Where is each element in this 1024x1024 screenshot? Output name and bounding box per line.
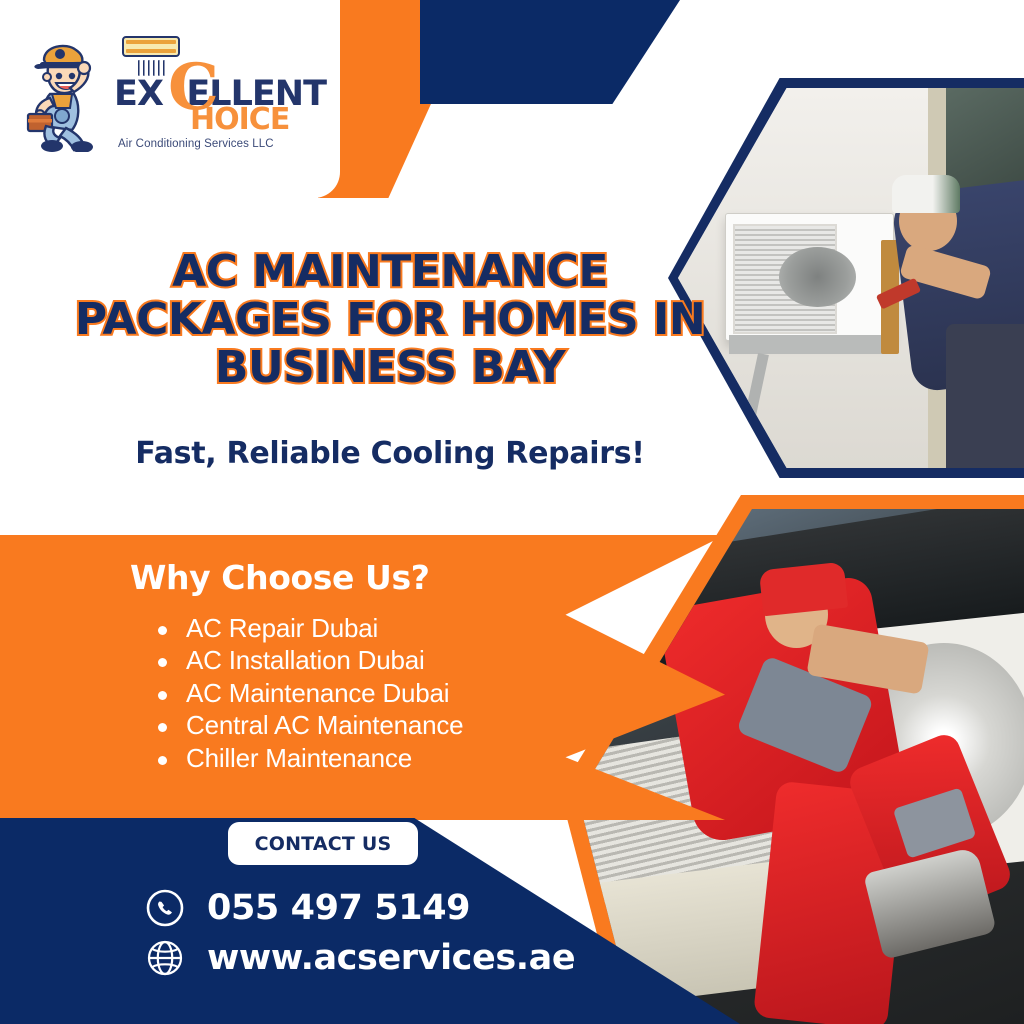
why-choose-us-section: Why Choose Us? AC Repair Dubai AC Instal…: [130, 558, 550, 775]
why-choose-us-title: Why Choose Us?: [130, 558, 550, 597]
list-item: Central AC Maintenance: [158, 710, 550, 741]
contact-us-button[interactable]: CONTACT US: [228, 822, 418, 865]
list-item: AC Repair Dubai: [158, 613, 550, 644]
technician-mascot-icon: [26, 34, 110, 152]
headline-block: AC MAINTENANCE PACKAGES FOR HOMES IN BUS…: [70, 248, 710, 471]
list-item: Chiller Maintenance: [158, 743, 550, 774]
logo-word-ex: EX: [114, 74, 162, 114]
website-url: www.acservices.ae: [207, 938, 575, 978]
photo-technician-outdoor-ac: [678, 88, 1024, 468]
list-item: AC Installation Dubai: [158, 645, 550, 676]
benefit-list: AC Repair Dubai AC Installation Dubai AC…: [130, 613, 550, 774]
logo-tagline: Air Conditioning Services LLC: [118, 138, 274, 150]
navy-parallelogram-shape: [420, 0, 680, 104]
phone-row[interactable]: 055 497 5149: [145, 888, 575, 928]
subheadline: Fast, Reliable Cooling Repairs!: [70, 436, 710, 471]
website-row[interactable]: www.acservices.ae: [145, 938, 575, 978]
top-photo-frame: [668, 78, 1024, 478]
logo-card: EXCELLENT C HOICE Air Conditioning Servi…: [0, 0, 340, 198]
logo-wordmark: EXCELLENT C: [114, 78, 326, 111]
globe-icon: [145, 938, 185, 978]
phone-number: 055 497 5149: [207, 888, 470, 928]
contact-details: 055 497 5149 www.acservices.ae: [145, 888, 575, 988]
list-item: AC Maintenance Dubai: [158, 678, 550, 709]
brand-logo: EXCELLENT C HOICE Air Conditioning Servi…: [26, 34, 326, 152]
logo-letter-c: C: [168, 56, 218, 120]
photo-technician-red-uniform: [578, 509, 1024, 1024]
ac-maintenance-promo-poster: EXCELLENT C HOICE Air Conditioning Servi…: [0, 0, 1024, 1024]
phone-icon: [145, 888, 185, 928]
page-title: AC MAINTENANCE PACKAGES FOR HOMES IN BUS…: [70, 248, 710, 392]
